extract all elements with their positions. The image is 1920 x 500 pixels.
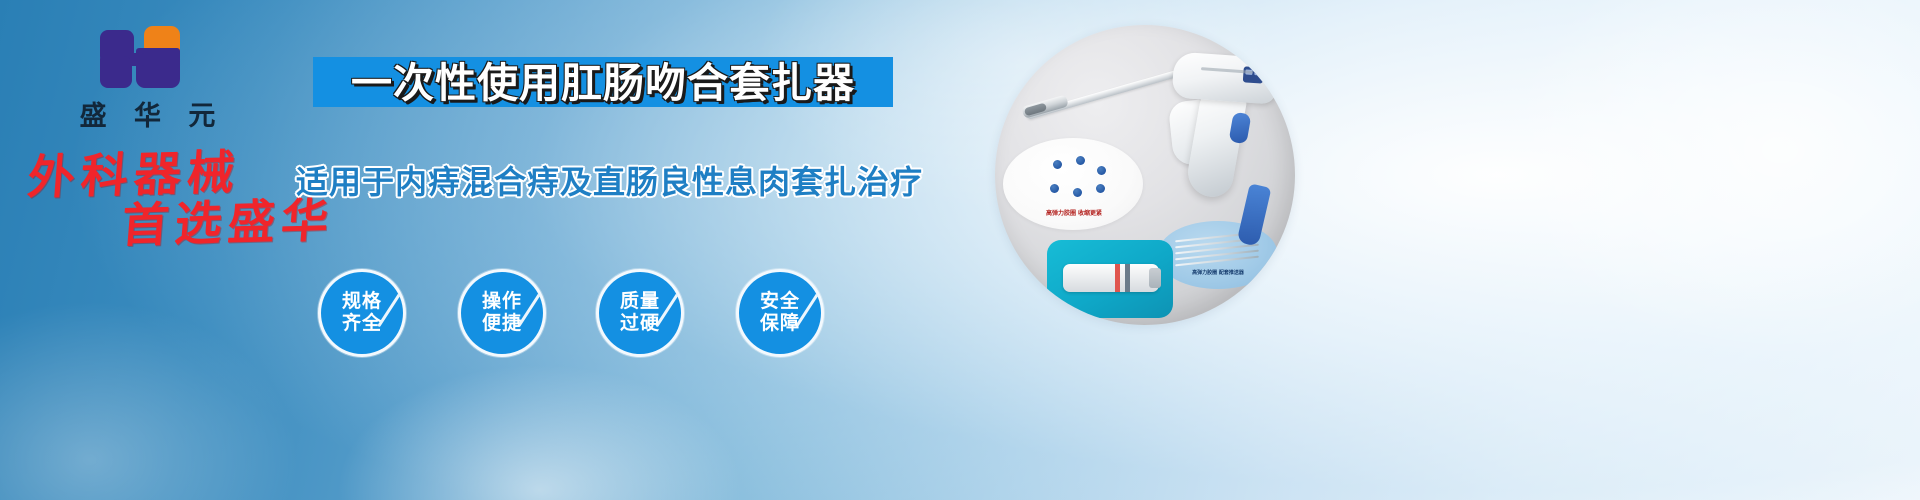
feature-badge-1-line2: 齐全 [342, 313, 382, 335]
product-photo[interactable]: 高弹力胶圈 收缩更紧 高弹力胶圈 配套推送器 [995, 25, 1295, 325]
feature-badge-2-line1: 操作 [482, 291, 522, 313]
feature-badge-3-line1: 质量 [620, 291, 660, 313]
page-title: 一次性使用肛肠吻合套扎器 [313, 48, 893, 110]
logo-square-bottom-left [100, 56, 132, 88]
logo-mark-icon [100, 26, 200, 88]
light-blob-bottom [330, 360, 750, 500]
feature-badge-4-line1: 安全 [760, 291, 800, 313]
feature-badges: 规格 齐全 操作 便捷 质量 过硬 安全 保障 [318, 269, 878, 364]
feature-badge-3[interactable]: 质量 过硬 [596, 269, 684, 357]
ligator-device-icon [995, 25, 1295, 325]
feature-badge-1[interactable]: 规格 齐全 [318, 269, 406, 357]
device-blue-tail [1237, 183, 1272, 246]
logo-square-center [130, 53, 144, 66]
light-blob-left [0, 300, 300, 500]
feature-badge-4-line2: 保障 [760, 313, 800, 335]
device-keypad-icon [1243, 66, 1264, 83]
slogan-line-1: 外科器械 [26, 149, 242, 202]
brand-name: 盛 华 元 [62, 94, 242, 133]
light-blob-right [1500, 0, 1920, 360]
feature-badge-1-line1: 规格 [342, 291, 382, 313]
device-blue-button [1229, 112, 1252, 145]
promo-banner: 盛 华 元 外科器械 首选盛华 一次性使用肛肠吻合套扎器 适用于内痔混合痔及直肠… [0, 0, 1920, 500]
feature-badge-2-line2: 便捷 [482, 313, 522, 335]
device-shaft-tip [1021, 95, 1069, 119]
feature-badge-4[interactable]: 安全 保障 [736, 269, 824, 357]
slogan-line-2: 首选盛华 [120, 197, 336, 250]
feature-badge-3-line2: 过硬 [620, 313, 660, 335]
device-body [1172, 51, 1279, 104]
brand-logo[interactable]: 盛 华 元 [62, 26, 242, 126]
subtitle: 适用于内痔混合痔及直肠良性息肉套扎治疗 [296, 159, 916, 201]
feature-badge-2[interactable]: 操作 便捷 [458, 269, 546, 357]
